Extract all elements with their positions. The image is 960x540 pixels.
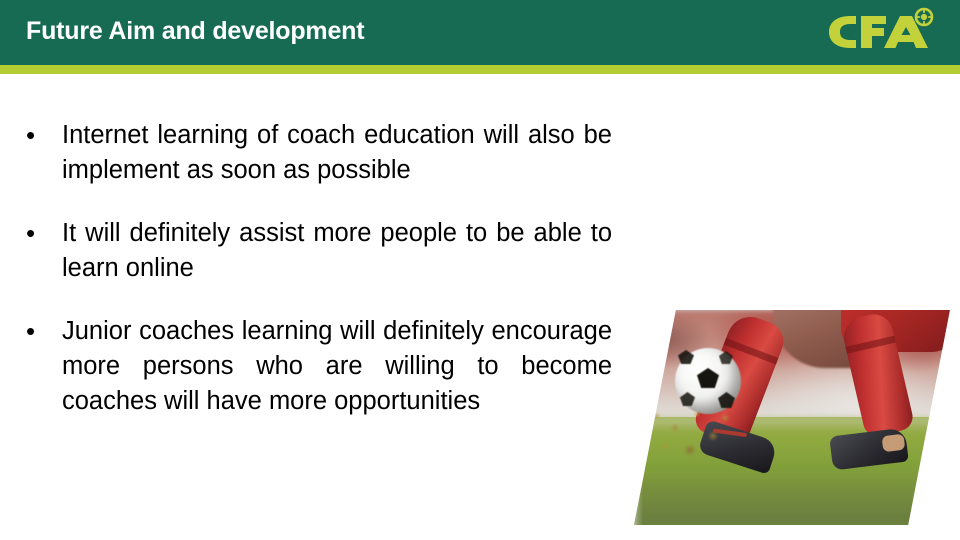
page-title: Future Aim and development: [26, 17, 364, 46]
header-accent-bar: [0, 65, 960, 74]
cfa-logo: [820, 6, 942, 58]
bullet-marker: •: [20, 118, 62, 153]
soccer-photo: [634, 310, 950, 525]
boot-accent: [882, 434, 906, 453]
soccer-photo-inner: [634, 310, 950, 525]
list-item: • It will definitely assist more people …: [20, 216, 612, 286]
photo-turf-spray: [645, 406, 737, 462]
bullet-marker: •: [20, 314, 62, 349]
bullet-marker: •: [20, 216, 62, 251]
list-item: • Internet learning of coach education w…: [20, 118, 612, 188]
bullet-text: Junior coaches learning will definitely …: [62, 314, 612, 419]
photo-sock-band: [845, 336, 895, 354]
slide: Future Aim and development • Internet le…: [0, 0, 960, 540]
list-item: • Junior coaches learning will definitel…: [20, 314, 612, 419]
soccer-ball-icon: [916, 9, 932, 25]
ball-panel: [697, 368, 719, 388]
photo-soccer-ball: [675, 348, 741, 414]
photo-left-fade: [634, 310, 643, 525]
cfa-logo-mark: [820, 6, 942, 58]
bullet-list: • Internet learning of coach education w…: [20, 118, 612, 419]
photo-foreground-blur: [634, 473, 950, 525]
bullet-text: Internet learning of coach education wil…: [62, 118, 612, 188]
bullet-text: It will definitely assist more people to…: [62, 216, 612, 286]
